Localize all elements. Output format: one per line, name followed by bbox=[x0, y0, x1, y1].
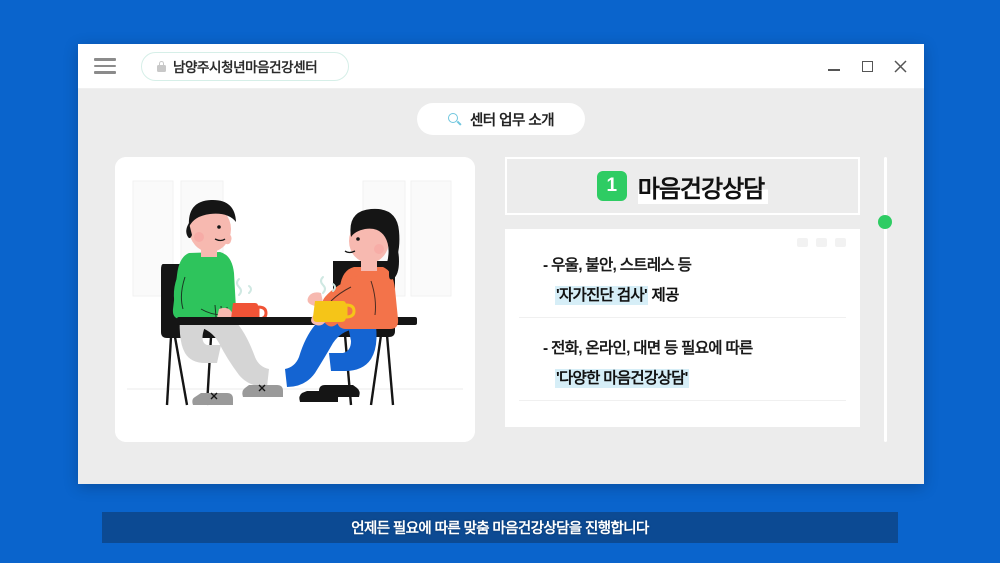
hamburger-line bbox=[94, 65, 116, 68]
search-pill-label: 센터 업무 소개 bbox=[470, 109, 554, 130]
info-line-primary: - 전화, 온라인, 대면 등 필요에 따른 bbox=[523, 336, 842, 358]
info-highlight: '자가진단 검사' bbox=[555, 286, 648, 305]
vertical-scroll-slider[interactable] bbox=[878, 157, 892, 442]
placeholder-dots bbox=[797, 238, 846, 247]
search-pill-button[interactable]: 센터 업무 소개 bbox=[417, 103, 585, 135]
info-line-secondary: '다양한 마음건강상담' bbox=[523, 366, 842, 388]
browser-window: 남양주시청년마음건강센터 센터 업무 소개 bbox=[78, 44, 924, 484]
hamburger-line bbox=[94, 71, 116, 74]
hamburger-menu-icon[interactable] bbox=[91, 52, 119, 80]
window-controls bbox=[824, 44, 910, 88]
close-button[interactable] bbox=[890, 56, 910, 76]
info-line-secondary: '자가진단 검사' 제공 bbox=[523, 283, 842, 305]
placeholder-dot bbox=[835, 238, 846, 247]
address-bar[interactable]: 남양주시청년마음건강센터 bbox=[141, 52, 349, 81]
address-bar-text: 남양주시청년마음건강센터 bbox=[173, 56, 317, 76]
info-item: - 우울, 불안, 스트레스 등 '자가진단 검사' 제공 bbox=[505, 253, 860, 305]
slider-thumb[interactable] bbox=[878, 215, 892, 229]
title-bar: 남양주시청년마음건강센터 bbox=[78, 44, 924, 89]
section-header: 1 마음건강상담 bbox=[505, 157, 860, 215]
info-spacer bbox=[505, 318, 860, 336]
slider-track[interactable] bbox=[884, 157, 887, 442]
maximize-button[interactable] bbox=[857, 56, 877, 76]
info-line-primary: - 우울, 불안, 스트레스 등 bbox=[523, 253, 842, 275]
info-item: - 전화, 온라인, 대면 등 필요에 따른 '다양한 마음건강상담' bbox=[505, 336, 860, 388]
placeholder-dot bbox=[797, 238, 808, 247]
caption-bar: 언제든 필요에 따른 맞춤 마음건강상담을 진행합니다 bbox=[102, 512, 898, 543]
info-divider bbox=[519, 400, 846, 401]
page-body: 센터 업무 소개 bbox=[78, 89, 924, 484]
minimize-button[interactable] bbox=[824, 56, 844, 76]
content-area: 1 마음건강상담 - 우울, 불안, 스트레스 등 '자가진단 검사' 제공 bbox=[78, 157, 924, 484]
placeholder-dot bbox=[816, 238, 827, 247]
counseling-illustration bbox=[115, 157, 475, 442]
section-body-card: - 우울, 불안, 스트레스 등 '자가진단 검사' 제공 - 전화, 온라인,… bbox=[505, 229, 860, 427]
info-highlight: '다양한 마음건강상담' bbox=[555, 369, 689, 388]
caption-text: 언제든 필요에 따른 맞춤 마음건강상담을 진행합니다 bbox=[351, 517, 648, 538]
step-number-badge: 1 bbox=[597, 171, 627, 201]
info-highlight-rest: 제공 bbox=[648, 287, 679, 304]
section-title: 마음건강상담 bbox=[638, 169, 768, 204]
search-icon bbox=[448, 113, 461, 126]
lock-icon bbox=[157, 61, 166, 72]
hamburger-line bbox=[94, 58, 116, 61]
info-column: 1 마음건강상담 - 우울, 불안, 스트레스 등 '자가진단 검사' 제공 bbox=[505, 157, 860, 427]
